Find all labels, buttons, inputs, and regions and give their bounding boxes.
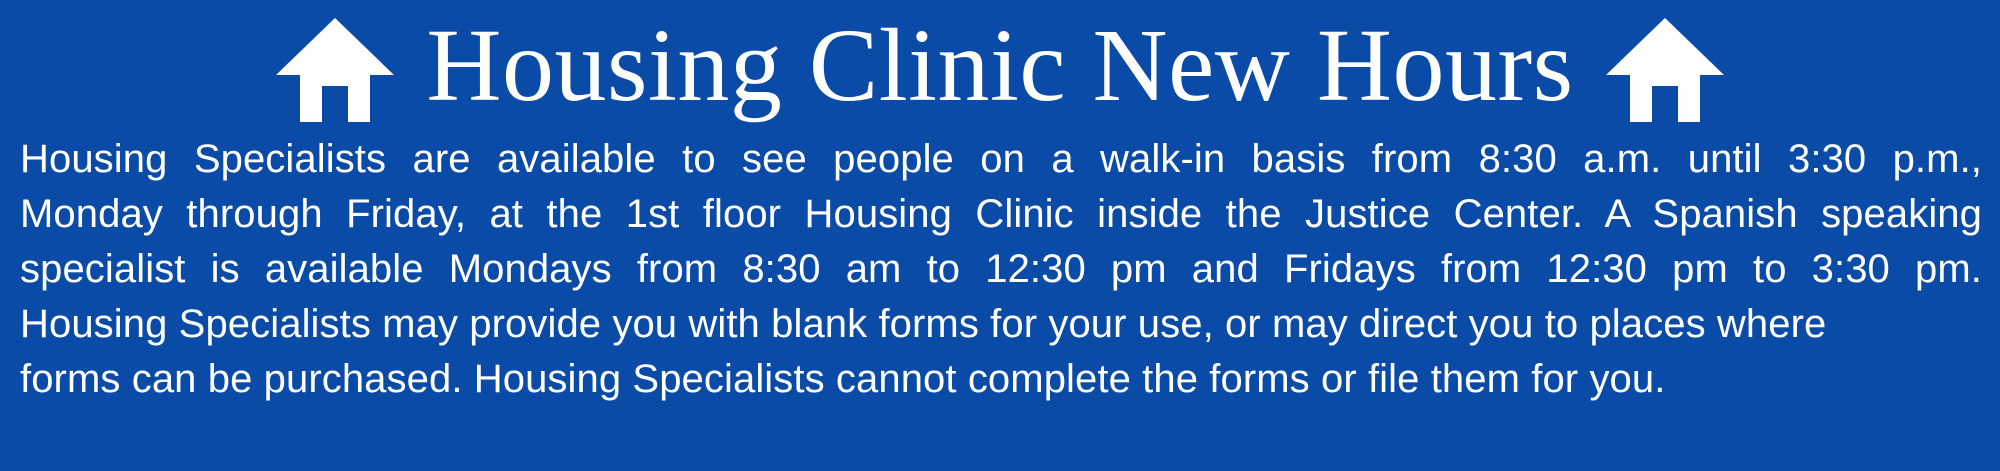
body-line: forms can be purchased. Housing Speciali… [20,352,1982,407]
house-icon-right-wrap [1604,16,1726,124]
house-icon [274,16,396,124]
banner-body-text: Housing Specialists are available to see… [0,132,2000,407]
house-icon-left-wrap [274,16,396,124]
body-line: specialist is available Mondays from 8:3… [20,242,1982,297]
house-icon [1604,16,1726,124]
body-line: Housing Specialists may provide you with… [20,297,1982,352]
housing-clinic-banner: Housing Clinic New Hours Housing Special… [0,0,2000,471]
body-line: Housing Specialists are available to see… [20,132,1982,187]
banner-header: Housing Clinic New Hours [0,0,2000,132]
body-line: Monday through Friday, at the 1st floor … [20,187,1982,242]
page-title: Housing Clinic New Hours [422,14,1577,118]
